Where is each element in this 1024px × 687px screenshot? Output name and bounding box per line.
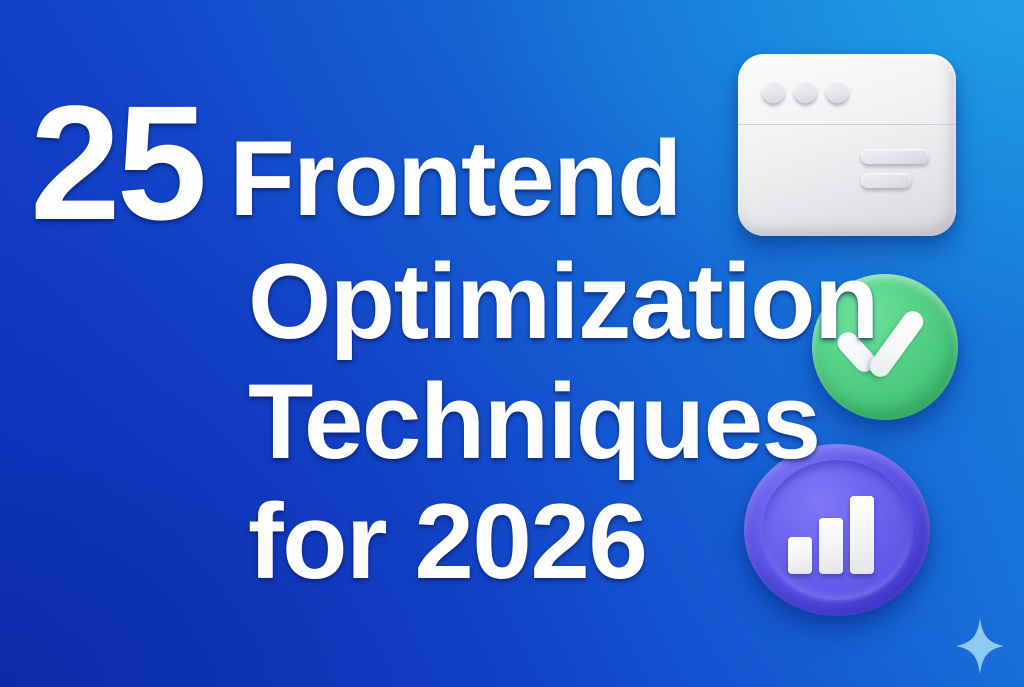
headline-line-2: Optimization [30, 241, 730, 361]
browser-window-icon [738, 54, 956, 236]
browser-window-titlebar [738, 54, 956, 125]
browser-dot-1-icon [762, 80, 785, 103]
headline-line-3: Techniques [30, 361, 730, 481]
browser-dot-2-icon [794, 80, 817, 103]
browser-dot-3-icon [826, 80, 849, 103]
chart-bar-1 [788, 537, 812, 574]
browser-content-bar-1 [861, 149, 929, 164]
chart-bar-2 [819, 518, 843, 574]
headline-block: 25 Frontend Optimization Techniques for … [30, 96, 730, 601]
headline-line-1-text: Frontend [229, 115, 681, 241]
chart-bar-3 [850, 496, 874, 574]
headline-line-4: for 2026 [30, 481, 730, 601]
browser-content-bar-2 [861, 173, 911, 188]
headline-count: 25 [30, 100, 203, 226]
sparkle-icon [956, 618, 1004, 674]
cover-canvas: 25 Frontend Optimization Techniques for … [0, 0, 1024, 687]
chart-badge-bars [788, 492, 884, 574]
headline-line-1: 25 Frontend [30, 96, 730, 241]
